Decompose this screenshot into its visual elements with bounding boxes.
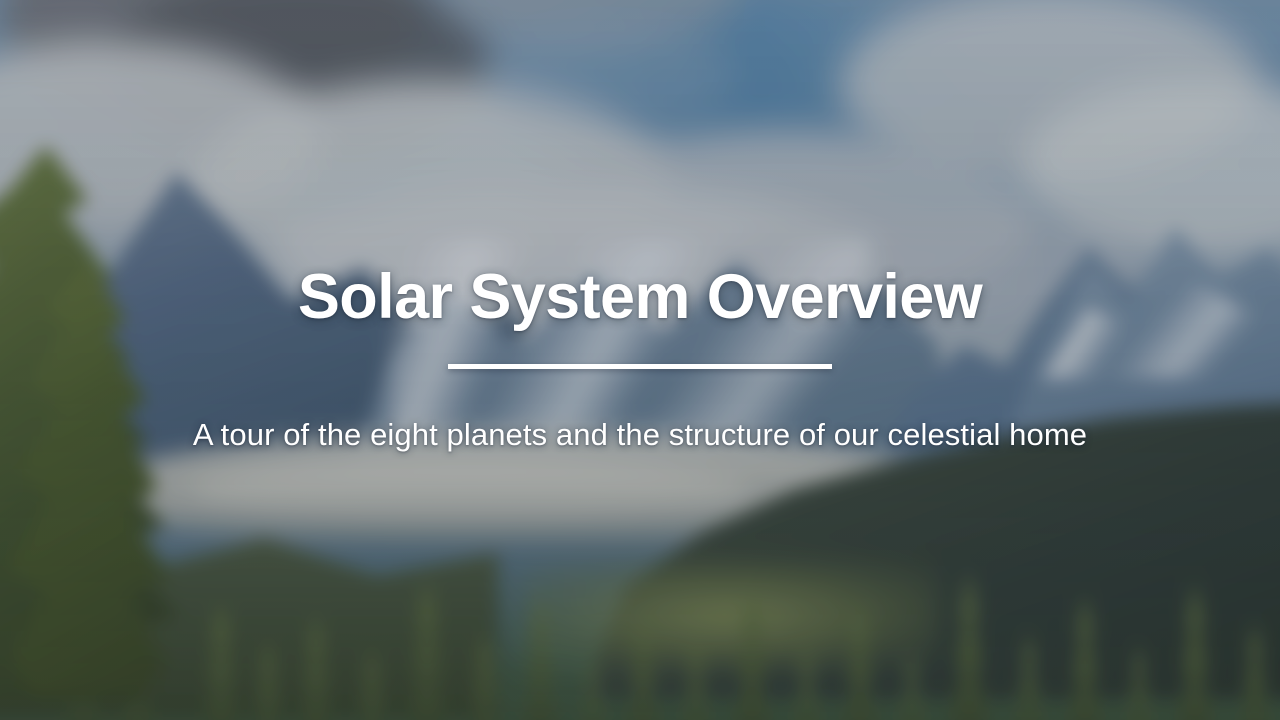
slide-subtitle: A tour of the eight planets and the stru… bbox=[193, 415, 1087, 455]
title-slide: Solar System Overview A tour of the eigh… bbox=[0, 0, 1280, 720]
title-divider bbox=[448, 364, 832, 369]
slide-content: Solar System Overview A tour of the eigh… bbox=[0, 0, 1280, 720]
slide-title: Solar System Overview bbox=[298, 264, 982, 330]
